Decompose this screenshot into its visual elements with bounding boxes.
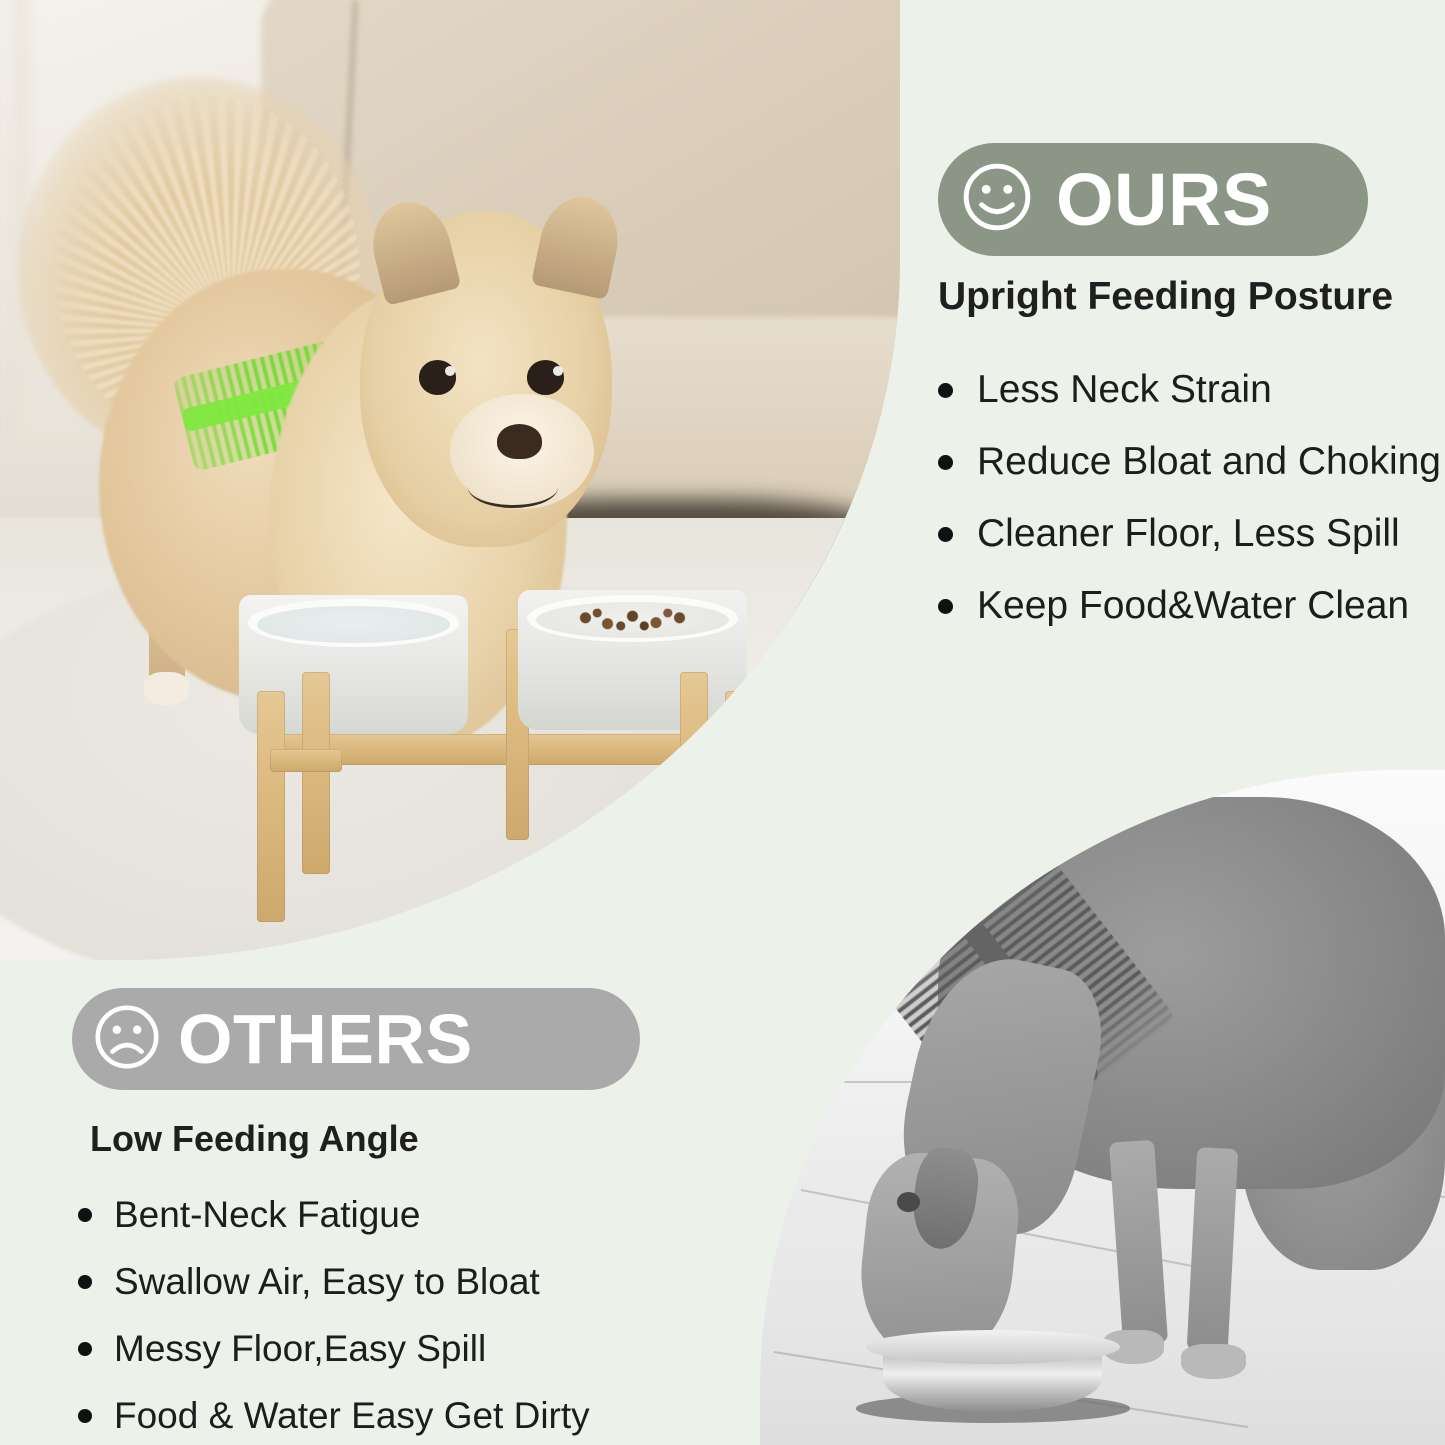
bamboo-rail-left bbox=[270, 749, 342, 772]
food-bowl bbox=[518, 590, 748, 729]
bamboo-rail-right bbox=[684, 749, 756, 772]
ours-benefits-list: Less Neck Strain Reduce Bloat and Chokin… bbox=[938, 362, 1441, 650]
infographic-canvas: OURS Upright Feeding Posture Less Neck S… bbox=[0, 0, 1445, 1445]
bullet-dot-icon bbox=[938, 383, 953, 398]
bullet-dot-icon bbox=[78, 1342, 92, 1356]
list-item: Reduce Bloat and Choking bbox=[938, 434, 1441, 490]
sad-face-icon bbox=[92, 1002, 162, 1077]
list-item: Keep Food&Water Clean bbox=[938, 578, 1441, 634]
tiled-room-scene bbox=[760, 770, 1445, 1445]
ours-badge-label: OURS bbox=[1056, 163, 1272, 237]
list-item-label: Keep Food&Water Clean bbox=[977, 584, 1409, 628]
dog-paw-right bbox=[1181, 1344, 1246, 1379]
smiley-face-icon bbox=[960, 160, 1034, 239]
dog-eating-from-floor-bowl-photo bbox=[760, 770, 1445, 1445]
list-item-label: Bent-Neck Fatigue bbox=[114, 1194, 420, 1236]
kibble bbox=[559, 607, 706, 633]
list-item: Less Neck Strain bbox=[938, 362, 1441, 418]
bullet-dot-icon bbox=[78, 1409, 92, 1423]
others-heading: Low Feeding Angle bbox=[90, 1118, 419, 1160]
bullet-dot-icon bbox=[938, 527, 953, 542]
bamboo-leg-back-right bbox=[680, 672, 709, 874]
list-item-label: Messy Floor,Easy Spill bbox=[114, 1328, 486, 1370]
list-item: Cleaner Floor, Less Spill bbox=[938, 506, 1441, 562]
pomeranian-hind-paw bbox=[144, 672, 189, 705]
ours-heading: Upright Feeding Posture bbox=[938, 275, 1393, 319]
others-badge: OTHERS bbox=[72, 988, 640, 1090]
bamboo-leg-back-left bbox=[302, 672, 331, 874]
list-item-label: Less Neck Strain bbox=[977, 368, 1272, 412]
others-badge-label: OTHERS bbox=[178, 1004, 473, 1074]
bullet-dot-icon bbox=[78, 1208, 92, 1222]
bullet-dot-icon bbox=[938, 455, 953, 470]
bamboo-leg-front-right bbox=[725, 691, 754, 921]
list-item-label: Cleaner Floor, Less Spill bbox=[977, 512, 1400, 556]
pomeranian-nose bbox=[497, 424, 542, 459]
bullet-dot-icon bbox=[78, 1275, 92, 1289]
list-item: Swallow Air, Easy to Bloat bbox=[78, 1255, 590, 1308]
bullet-dot-icon bbox=[938, 599, 953, 614]
list-item-label: Food & Water Easy Get Dirty bbox=[114, 1395, 590, 1437]
list-item-label: Reduce Bloat and Choking bbox=[977, 440, 1441, 484]
list-item: Food & Water Easy Get Dirty bbox=[78, 1389, 590, 1442]
pomeranian-mouth bbox=[468, 467, 558, 508]
bamboo-leg-front-left bbox=[257, 691, 286, 921]
list-item: Messy Floor,Easy Spill bbox=[78, 1322, 590, 1375]
water-bowl-water bbox=[257, 606, 450, 642]
list-item-label: Swallow Air, Easy to Bloat bbox=[114, 1261, 540, 1303]
list-item: Bent-Neck Fatigue bbox=[78, 1188, 590, 1241]
ours-badge: OURS bbox=[938, 143, 1368, 256]
steel-bowl-rim bbox=[866, 1330, 1119, 1364]
others-drawbacks-list: Bent-Neck Fatigue Swallow Air, Easy to B… bbox=[78, 1188, 590, 1445]
